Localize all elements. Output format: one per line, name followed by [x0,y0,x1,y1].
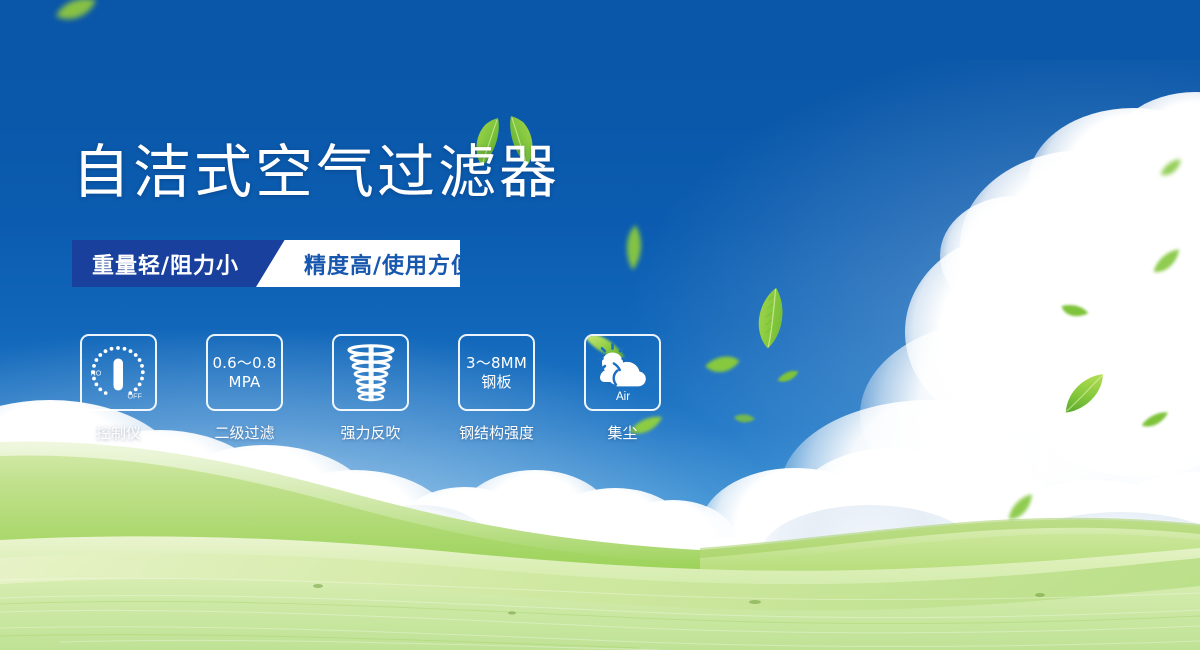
page-title: 自洁式空气过滤器 [72,143,560,201]
gauge-label-off: OFF [128,392,143,401]
feature-item-control-meter[interactable]: NO OFF 控制仪 [80,334,157,443]
copy-block: 自洁式空气过滤器 重量轻/阻力小 精度高/使用方便 [0,0,1200,650]
feature-item-dust-collection[interactable]: Air 集尘 [584,334,661,443]
feature-item-strong-backblow[interactable]: 强力反吹 [332,334,409,443]
subtitle-right-text: 精度高/使用方便 [304,248,474,280]
coil-stack-icon [342,342,400,404]
feature-icon-box: 3～8MM 钢板 [458,334,535,411]
gauge-label-no: NO [91,369,102,378]
feature-icon-box: Air [584,334,661,411]
feature-item-two-stage-filter[interactable]: 0.6～0.8 MPA 二级过滤 [206,334,283,443]
feature-value-line1: 0.6～0.8 [212,354,276,373]
banner-stage: 自洁式空气过滤器 重量轻/阻力小 精度高/使用方便 [0,0,1200,650]
feature-value-line2: MPA [212,373,276,392]
feature-icon-row: NO OFF 控制仪 0.6～0.8 MPA 二级过滤 [80,334,661,443]
feature-item-steel-strength[interactable]: 3～8MM 钢板 钢结构强度 [458,334,535,443]
subtitle-left-text: 重量轻/阻力小 [92,248,239,280]
feature-value-line2: 钢板 [466,373,527,392]
feature-icon-box: 0.6～0.8 MPA [206,334,283,411]
feature-value-line1: 3～8MM [466,354,527,373]
feature-label: 集尘 [607,422,637,443]
gauge-dial-icon: NO OFF [82,336,155,409]
feature-icon-box [332,334,409,411]
icon-caption-air: Air [615,391,629,403]
cloud-sun-air-icon: Air [592,342,654,404]
feature-label: 强力反吹 [340,422,400,443]
subtitle-bar: 重量轻/阻力小 精度高/使用方便 [72,240,460,287]
feature-label: 钢结构强度 [459,422,534,443]
feature-label: 控制仪 [96,422,141,443]
subtitle-segment-secondary: 精度高/使用方便 [256,240,460,287]
feature-label: 二级过滤 [214,422,274,443]
steel-plate-text-icon: 3～8MM 钢板 [466,354,527,392]
pressure-text-icon: 0.6～0.8 MPA [212,354,276,392]
feature-icon-box: NO OFF [80,334,157,411]
